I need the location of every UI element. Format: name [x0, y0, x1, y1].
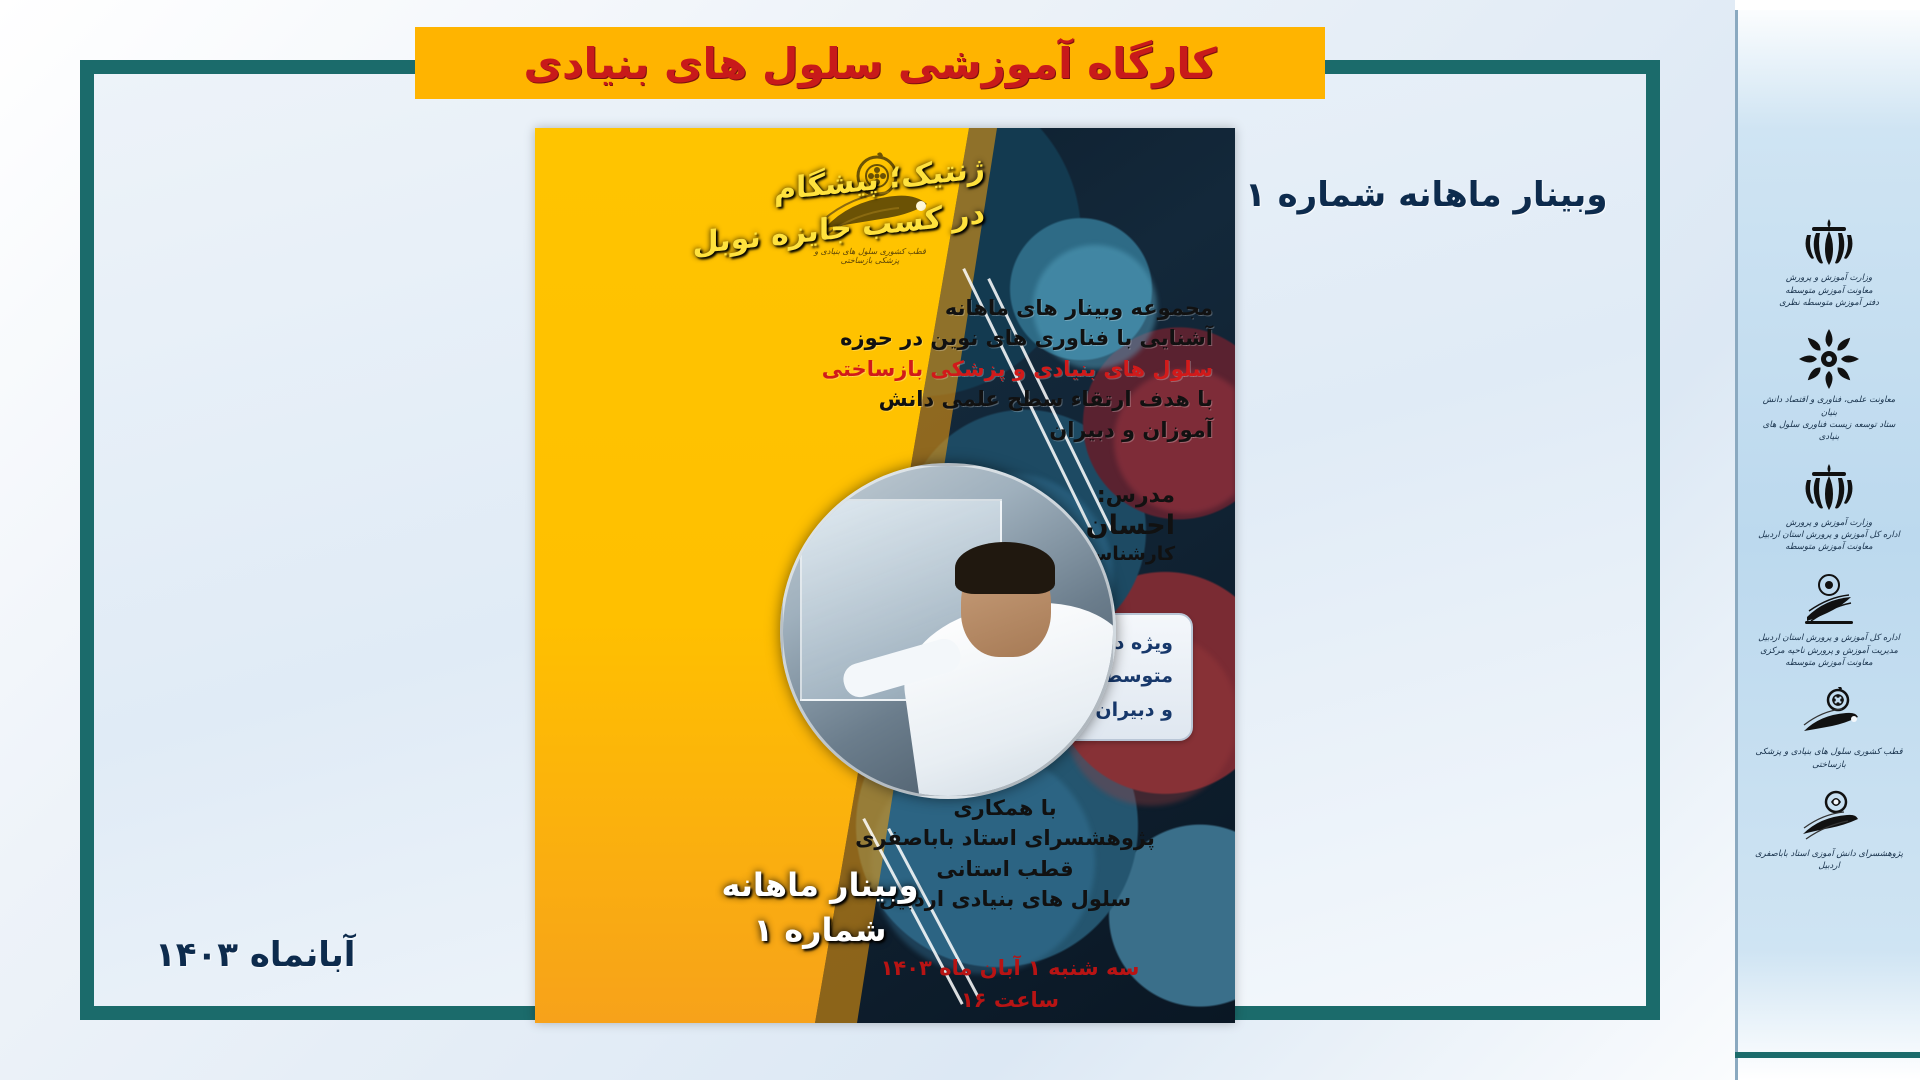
- education-emblem-icon: [1799, 571, 1859, 629]
- rail-logo-item: قطب کشوری سلول های بنیادی و پزشکی بازساخ…: [1738, 687, 1920, 771]
- poster-intro-line-2: آشنایی با فناوری های نوین در حوزه: [813, 323, 1213, 353]
- laboratory-photo: [780, 463, 1116, 799]
- rail-logo-caption: قطب کشوری سلول های بنیادی و پزشکی بازساخ…: [1754, 746, 1904, 771]
- slide-bottom-date-text: آبانماه ۱۴۰۳: [155, 935, 355, 975]
- slide-canvas: کارگاه آموزشی سلول های بنیادی: [0, 0, 1860, 1080]
- poster-intro-line-1: مجموعه وبینار های ماهانه: [813, 293, 1213, 323]
- rail-logo-caption: وزارت آموزش و پرورش معاونت آموزش متوسطه …: [1754, 272, 1904, 309]
- poster-headline: ژنتیک؛ پیشگام در کسب جایزه نوبل: [565, 168, 985, 258]
- poster-footer-line-1: وبینار ماهانه: [655, 863, 985, 908]
- rail-logo-item: معاونت علمی، فناوری و اقتصاد دانش بنیان …: [1738, 327, 1920, 443]
- rail-logo-caption: معاونت علمی، فناوری و اقتصاد دانش بنیان …: [1754, 394, 1904, 443]
- poster-cooperation-line-2: پژوهشسرای استاد باباصفری: [835, 823, 1175, 853]
- rail-logo-caption: وزارت آموزش و پرورش اداره کل آموزش و پرو…: [1754, 517, 1904, 554]
- slide-bottom-date: آبانماه ۱۴۰۳: [155, 935, 355, 975]
- poster-time-line: ساعت ۱۶: [845, 985, 1175, 1017]
- rail-logo-item: پژوهشسرای دانش آموزی استاد باباصفری اردب…: [1738, 789, 1920, 873]
- poster-cooperation-line-1: با همکاری: [835, 793, 1175, 823]
- iran-emblem-icon: [1800, 462, 1858, 514]
- rail-logo-item: وزارت آموزش و پرورش معاونت آموزش متوسطه …: [1738, 217, 1920, 309]
- event-poster: قطب کشوری سلول های بنیادی و پزشکی بازساخ…: [535, 128, 1235, 1023]
- poster-footer-headline: وبینار ماهانه شماره ۱: [655, 863, 985, 953]
- slide-title-banner: کارگاه آموزشی سلول های بنیادی: [415, 27, 1325, 99]
- page-title: کارگاه آموزشی سلول های بنیادی: [523, 39, 1216, 88]
- slide-side-heading-text: وبینار ماهانه شماره ۱: [1245, 175, 1607, 215]
- poster-intro-line-3: سلول های بنیادی و پزشکی بازساختی: [813, 354, 1213, 384]
- stemcell-wing-icon: [1798, 687, 1860, 743]
- organization-logo-rail: وزارت آموزش و پرورش معاونت آموزش متوسطه …: [1735, 0, 1920, 1080]
- research-wing-icon: [1798, 789, 1860, 845]
- poster-date-block: سه شنبه ۱ آبان ماه ۱۴۰۳ ساعت ۱۶: [845, 953, 1175, 1016]
- rail-logo-item: اداره کل آموزش و پرورش استان اردبیل مدیر…: [1738, 571, 1920, 669]
- poster-footer-line-2: شماره ۱: [655, 908, 985, 953]
- rail-bottom-bar: [1735, 1052, 1920, 1058]
- lab-technician-hair: [955, 542, 1055, 594]
- iran-emblem-icon: [1800, 217, 1858, 269]
- poster-date-line: سه شنبه ۱ آبان ماه ۱۴۰۳: [845, 953, 1175, 985]
- slide-side-heading: وبینار ماهانه شماره ۱: [1245, 175, 1607, 215]
- rail-logo-caption: اداره کل آموزش و پرورش استان اردبیل مدیر…: [1754, 632, 1904, 669]
- presentation-slide-screen: کارگاه آموزشی سلول های بنیادی: [0, 0, 1920, 1080]
- rail-logo-item: وزارت آموزش و پرورش اداره کل آموزش و پرو…: [1738, 462, 1920, 554]
- star-rosette-icon: [1796, 327, 1862, 391]
- rail-top-bar: [1735, 0, 1920, 10]
- poster-intro-block: مجموعه وبینار های ماهانه آشنایی با فناور…: [813, 293, 1213, 445]
- rail-logo-caption: پژوهشسرای دانش آموزی استاد باباصفری اردب…: [1754, 848, 1904, 873]
- poster-intro-line-4: با هدف ارتقاء سطح علمی دانش آموزان و دبی…: [813, 384, 1213, 445]
